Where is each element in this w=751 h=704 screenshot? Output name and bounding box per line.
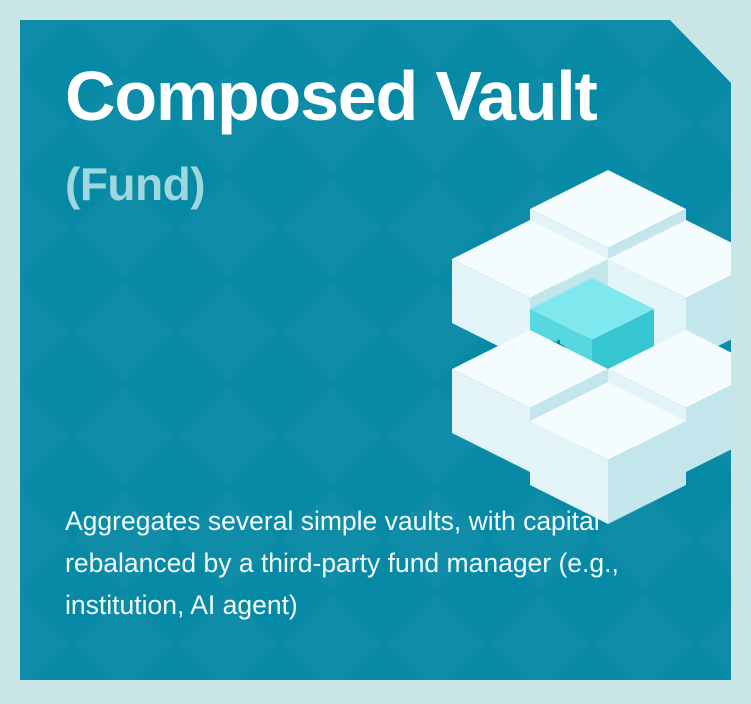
card-subtitle: (Fund) <box>65 158 205 210</box>
isometric-cube-cluster: $ <box>430 170 700 470</box>
composed-vault-card: Composed Vault (Fund) $ Aggregates sever… <box>20 20 731 680</box>
screenshot-stage: Composed Vault (Fund) $ Aggregates sever… <box>0 0 751 704</box>
card-description: Aggregates several simple vaults, with c… <box>65 500 645 626</box>
card-title: Composed Vault <box>65 58 597 134</box>
